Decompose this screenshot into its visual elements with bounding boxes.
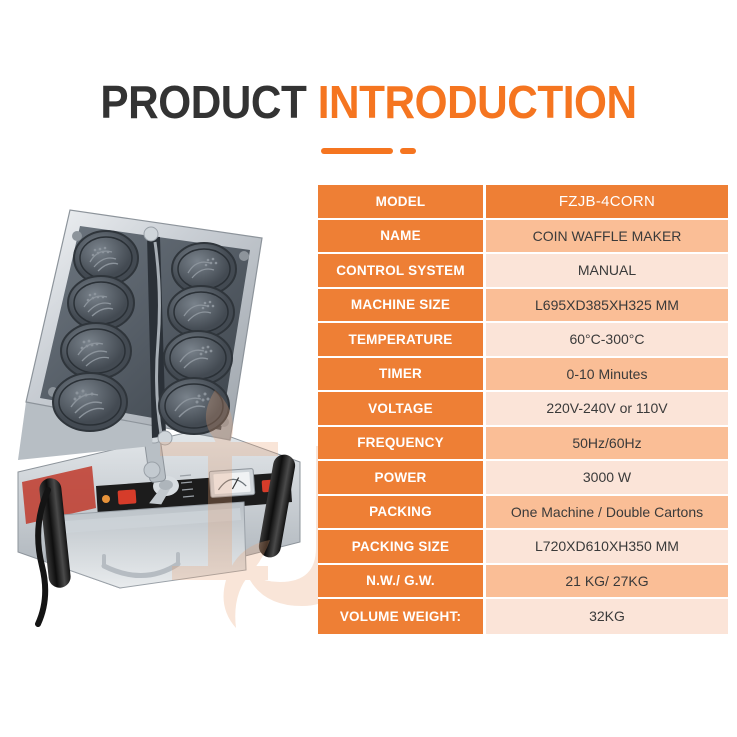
spec-label: PACKING SIZE [318, 530, 486, 565]
page-title-text: PRODUCT INTRODUCTION [29, 76, 707, 128]
table-row: N.W./ G.W. 21 KG/ 27KG [318, 565, 728, 600]
spec-value: MANUAL [486, 254, 728, 289]
title-word-introduction: INTRODUCTION [318, 76, 637, 128]
table-row: POWER 3000 W [318, 461, 728, 496]
product-photo [0, 190, 316, 630]
table-row: TEMPERATURE 60°C-300°C [318, 323, 728, 358]
title-underline [0, 148, 737, 154]
table-row: VOLUME WEIGHT: 32KG [318, 599, 728, 634]
table-row: MACHINE SIZE L695XD385XH325 MM [318, 289, 728, 324]
table-row: NAME COIN WAFFLE MAKER [318, 220, 728, 255]
spec-label: TEMPERATURE [318, 323, 486, 358]
spec-value: L695XD385XH325 MM [486, 289, 728, 324]
specification-table-body: MODEL FZJB-4CORN NAME COIN WAFFLE MAKER … [318, 185, 728, 634]
spec-label: NAME [318, 220, 486, 255]
spec-value: One Machine / Double Cartons [486, 496, 728, 531]
table-row: CONTROL SYSTEM MANUAL [318, 254, 728, 289]
table-row: VOLTAGE 220V-240V or 110V [318, 392, 728, 427]
table-row: FREQUENCY 50Hz/60Hz [318, 427, 728, 462]
product-introduction-page: PRODUCT INTRODUCTION [0, 0, 737, 737]
spec-label: FREQUENCY [318, 427, 486, 462]
title-word-product: PRODUCT [100, 76, 306, 128]
upper-cooking-plate [18, 210, 262, 460]
spec-label: TIMER [318, 358, 486, 393]
table-row: PACKING SIZE L720XD610XH350 MM [318, 530, 728, 565]
spec-value: 32KG [486, 599, 728, 634]
spec-value: 50Hz/60Hz [486, 427, 728, 462]
spec-label: CONTROL SYSTEM [318, 254, 486, 289]
spec-value: 60°C-300°C [486, 323, 728, 358]
spec-value: COIN WAFFLE MAKER [486, 220, 728, 255]
spec-value: 21 KG/ 27KG [486, 565, 728, 600]
underline-dash-long [321, 148, 393, 154]
spec-label: VOLTAGE [318, 392, 486, 427]
spec-value: L720XD610XH350 MM [486, 530, 728, 565]
page-title: PRODUCT INTRODUCTION [0, 76, 737, 128]
spec-label: MODEL [318, 185, 486, 220]
table-row: TIMER 0-10 Minutes [318, 358, 728, 393]
spec-value: 0-10 Minutes [486, 358, 728, 393]
specification-table: MODEL FZJB-4CORN NAME COIN WAFFLE MAKER … [318, 185, 728, 634]
spec-value: FZJB-4CORN [486, 185, 728, 220]
spec-label: VOLUME WEIGHT: [318, 599, 486, 634]
table-row: MODEL FZJB-4CORN [318, 185, 728, 220]
spec-label: POWER [318, 461, 486, 496]
spec-value: 3000 W [486, 461, 728, 496]
spec-label: MACHINE SIZE [318, 289, 486, 324]
spec-label: N.W./ G.W. [318, 565, 486, 600]
underline-dash-short [400, 148, 416, 154]
table-row: PACKING One Machine / Double Cartons [318, 496, 728, 531]
spec-value: 220V-240V or 110V [486, 392, 728, 427]
spec-label: PACKING [318, 496, 486, 531]
